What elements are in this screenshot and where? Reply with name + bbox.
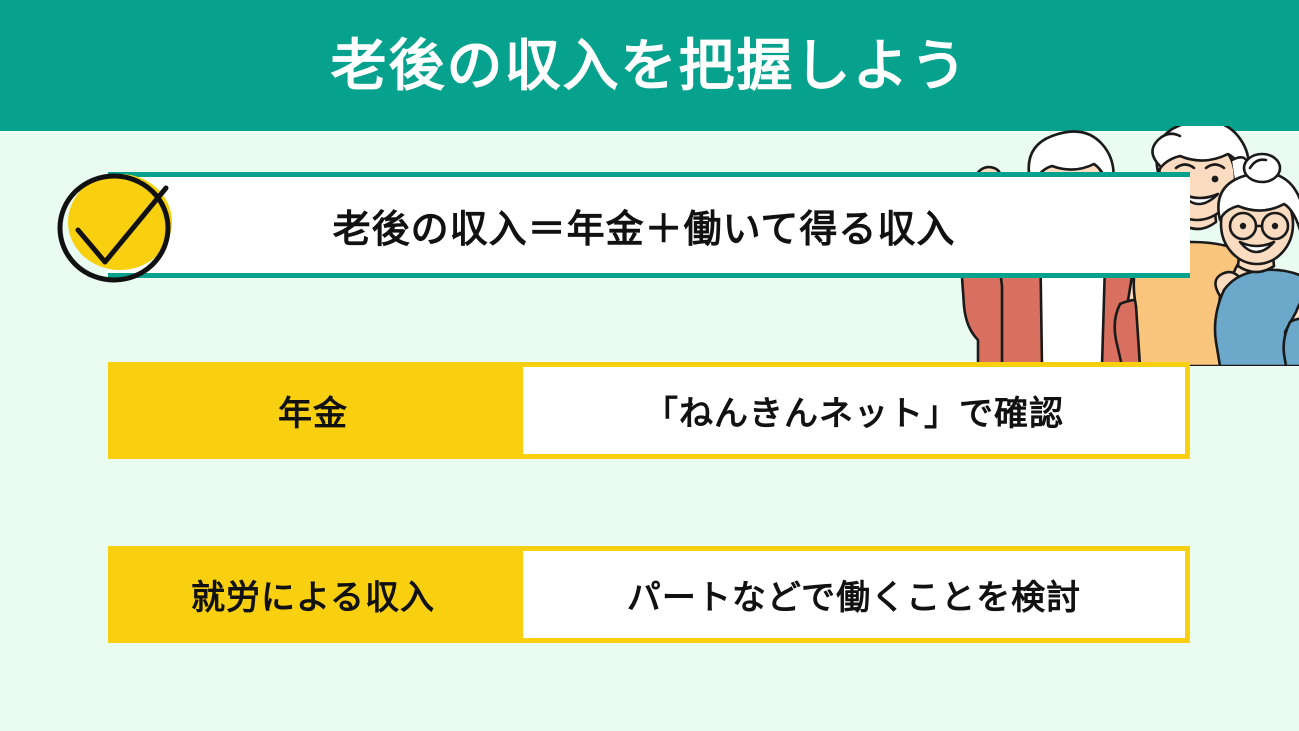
row-label-cell: 年金 xyxy=(108,362,518,459)
check-circle-icon xyxy=(48,166,184,290)
headline-label: 老後の収入＝年金＋働いて得る収入 xyxy=(333,198,956,253)
row-value-cell: パートなどで働くことを検討 xyxy=(518,546,1190,643)
row-label-cell: 就労による収入 xyxy=(108,546,518,643)
headline-text: 老後の収入＝年金＋働いて得る収入 xyxy=(108,172,1190,278)
info-row-pension: 年金 「ねんきんネット」で確認 xyxy=(108,362,1190,459)
row-value-cell: 「ねんきんネット」で確認 xyxy=(518,362,1190,459)
row-value-text: 「ねんきんネット」で確認 xyxy=(644,386,1064,435)
row-value-text: パートなどで働くことを検討 xyxy=(627,570,1081,619)
row-label-text: 就労による収入 xyxy=(191,570,435,619)
slide-canvas: 老後の収入を把握しよう xyxy=(0,0,1299,731)
page-title: 老後の収入を把握しよう xyxy=(0,0,1299,131)
row-label-text: 年金 xyxy=(278,386,348,435)
info-row-employment-income: 就労による収入 パートなどで働くことを検討 xyxy=(108,546,1190,643)
